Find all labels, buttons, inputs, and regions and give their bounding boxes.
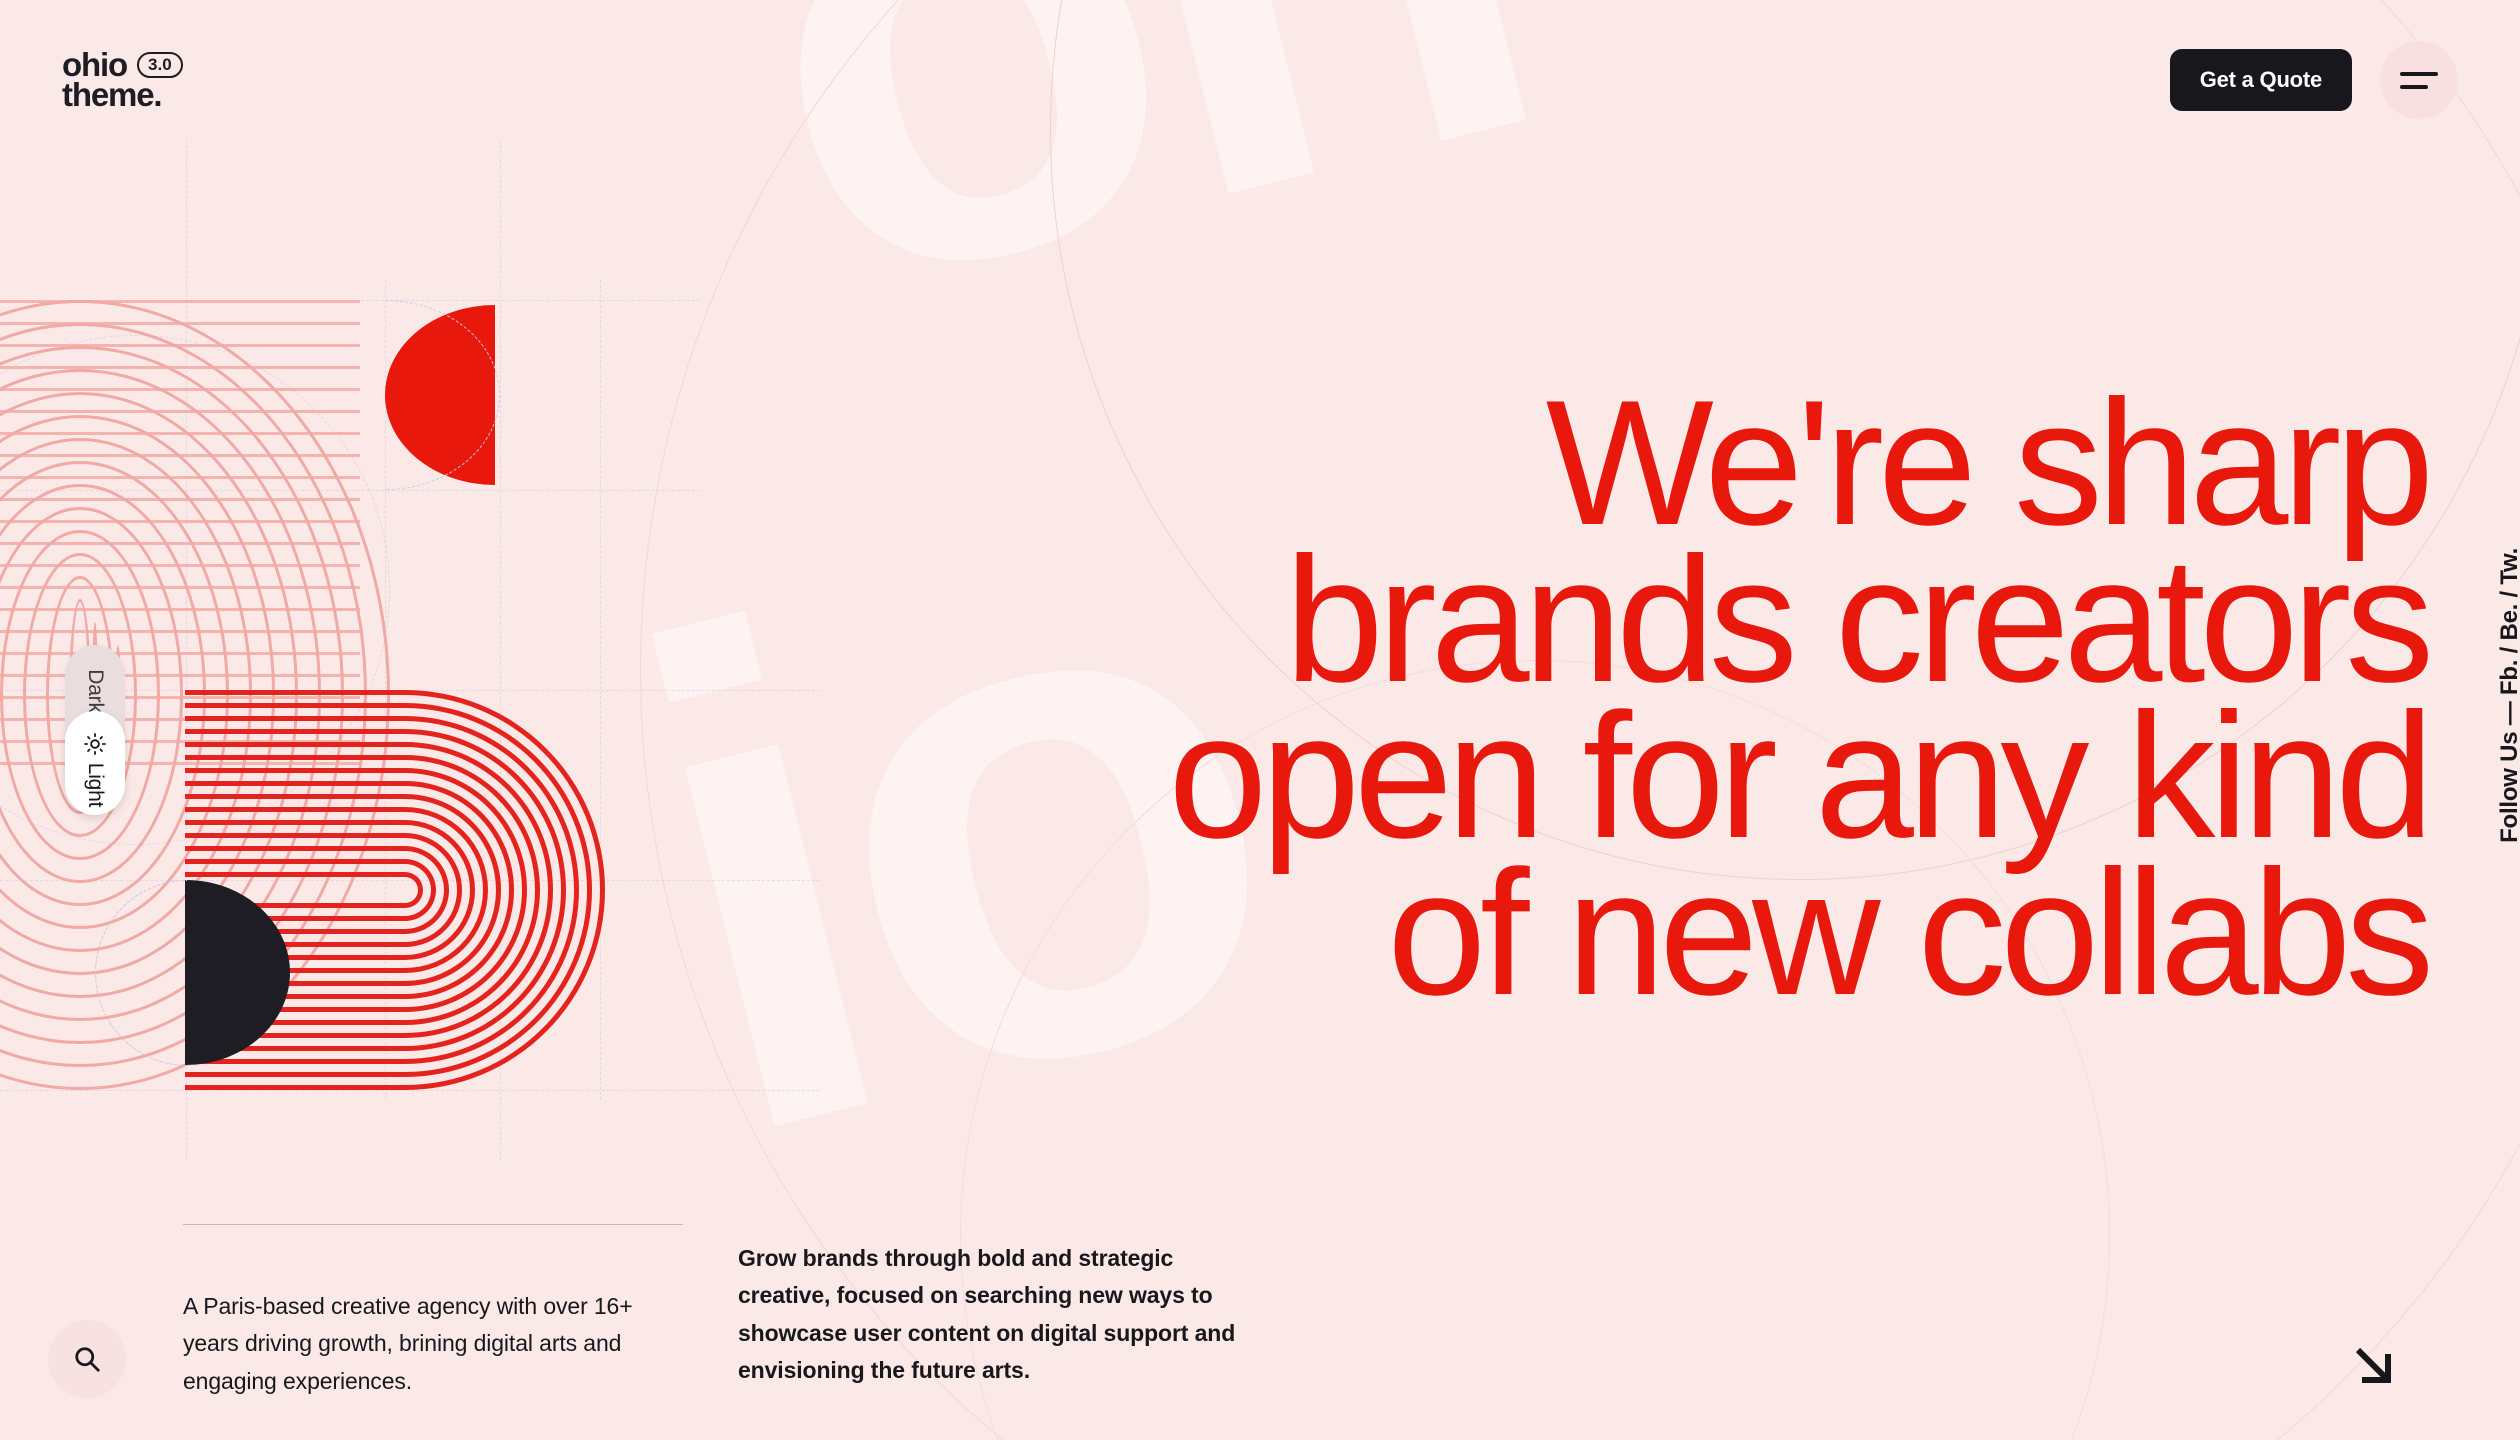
- search-button[interactable]: [48, 1320, 126, 1398]
- hero-section: We're sharp brands creators open for any…: [788, 385, 2428, 1012]
- site-header: ohio 3.0 theme. Get a Quote: [0, 0, 2520, 160]
- hamburger-line-bottom: [2400, 85, 2428, 89]
- theme-toggle-knob[interactable]: Light: [65, 711, 125, 815]
- hero-graphic-composition: [0, 0, 820, 1160]
- search-icon: [72, 1344, 102, 1374]
- logo-line-two: theme.: [62, 80, 183, 110]
- social-links-text[interactable]: Follow Us — Fb. / Be. / Tw.: [2496, 548, 2520, 843]
- page-title: We're sharp brands creators open for any…: [788, 385, 2428, 1012]
- content-divider: [183, 1224, 683, 1225]
- logo-version-badge: 3.0: [137, 52, 183, 79]
- services-description-paragraph: Grow brands through bold and strategic c…: [738, 1240, 1258, 1390]
- headline-line-3: open for any kind: [788, 698, 2428, 855]
- agency-description-paragraph: A Paris-based creative agency with over …: [183, 1288, 683, 1400]
- social-links-rail: Follow Us — Fb. / Be. / Tw.: [2496, 548, 2520, 843]
- hamburger-line-top: [2400, 72, 2438, 76]
- headline-line-1: We're sharp: [788, 385, 2428, 542]
- sun-icon: [84, 733, 106, 755]
- arrow-down-right-icon: [2346, 1338, 2402, 1394]
- get-a-quote-button[interactable]: Get a Quote: [2170, 49, 2352, 111]
- scroll-down-button[interactable]: [2346, 1338, 2402, 1394]
- hamburger-menu-icon[interactable]: [2380, 41, 2458, 119]
- logo[interactable]: ohio 3.0 theme.: [62, 50, 183, 111]
- header-actions: Get a Quote: [2170, 41, 2458, 119]
- theme-toggle-light-label[interactable]: Light: [83, 763, 107, 808]
- headline-line-4: of new collabs: [788, 855, 2428, 1012]
- headline-line-2: brands creators: [788, 542, 2428, 699]
- theme-toggle-dark-label[interactable]: Dark: [83, 669, 107, 713]
- theme-toggle[interactable]: Dark Light: [65, 645, 125, 815]
